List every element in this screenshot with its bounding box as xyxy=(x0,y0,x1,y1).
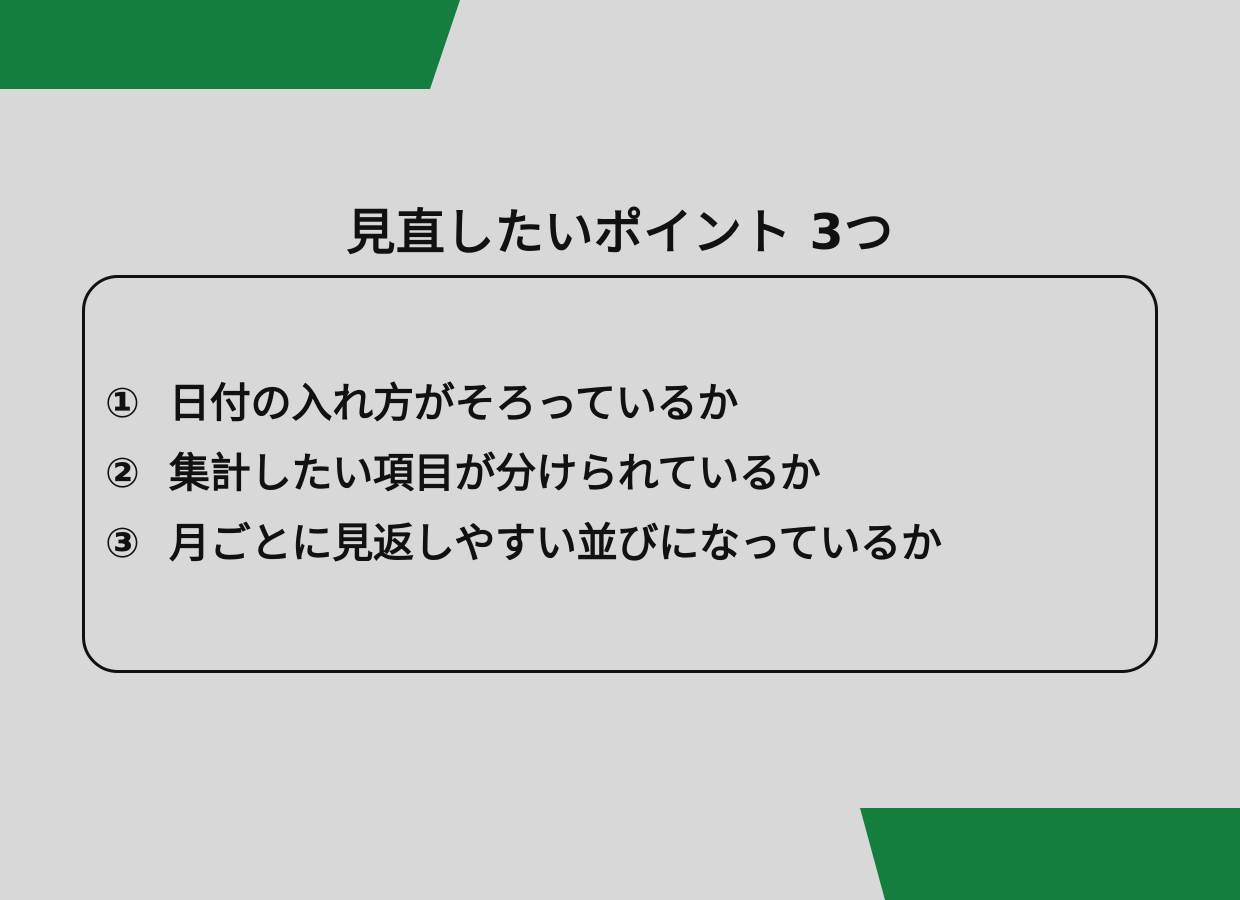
list-item-marker-3: ③ xyxy=(105,508,169,578)
list-item-marker-2: ② xyxy=(105,438,169,508)
slide-canvas: 見直したいポイント 3つ ① 日付の入れ方がそろっているか ② 集計したい項目が… xyxy=(0,0,1240,900)
points-list: ① 日付の入れ方がそろっているか ② 集計したい項目が分けられているか ③ 月ご… xyxy=(105,368,1145,578)
decoration-top-left-green-shape xyxy=(0,0,470,89)
list-item: ① 日付の入れ方がそろっているか xyxy=(105,368,1145,438)
list-item-marker-1: ① xyxy=(105,368,169,438)
list-item-label-1: 日付の入れ方がそろっているか xyxy=(169,368,738,438)
decoration-bottom-right-green-shape xyxy=(845,808,1240,900)
list-item-label-2: 集計したい項目が分けられているか xyxy=(169,438,821,508)
list-item-label-3: 月ごとに見返しやすい並びになっているか xyxy=(169,508,942,578)
list-item: ② 集計したい項目が分けられているか xyxy=(105,438,1145,508)
slide-title: 見直したいポイント 3つ xyxy=(0,203,1240,263)
list-item: ③ 月ごとに見返しやすい並びになっているか xyxy=(105,508,1145,578)
